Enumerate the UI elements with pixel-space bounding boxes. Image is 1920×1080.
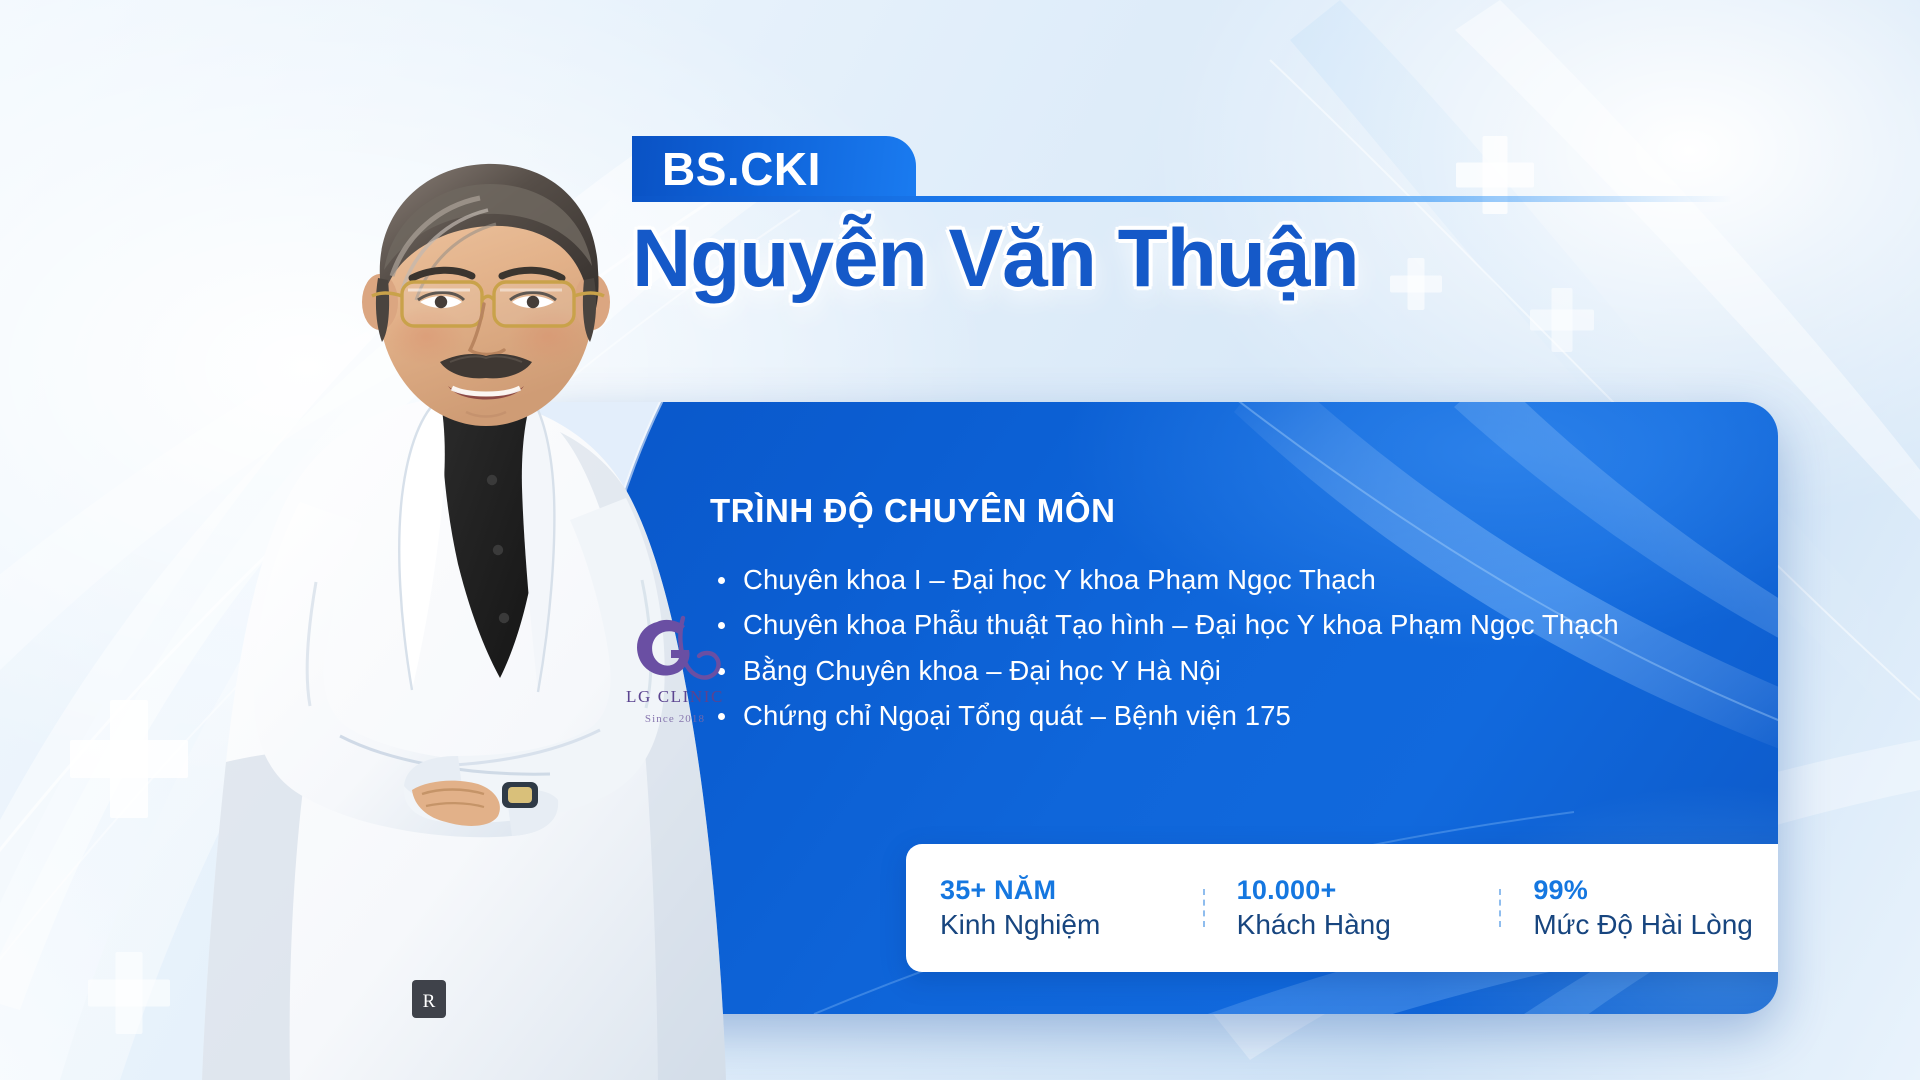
- doctor-name: Nguyễn Văn Thuận: [632, 216, 1862, 302]
- credential-item: Bằng Chuyên khoa – Đại học Y Hà Nội: [710, 651, 1690, 691]
- doctor-portrait: LG CLINIC Since 2018 R: [140, 150, 760, 1080]
- stat-value: 99%: [1533, 875, 1778, 906]
- stat-label: Kinh Nghiệm: [940, 908, 1203, 942]
- header-block: BS.CKI Nguyễn Văn Thuận: [632, 136, 1862, 302]
- stat-value: 10.000+: [1237, 875, 1500, 906]
- badge-row: BS.CKI: [632, 136, 1862, 202]
- svg-text:Since 2018: Since 2018: [645, 713, 705, 725]
- credential-item: Chuyên khoa I – Đại học Y khoa Phạm Ngọc…: [710, 560, 1690, 600]
- svg-text:LG CLINIC: LG CLINIC: [626, 687, 724, 706]
- credential-item: Chuyên khoa Phẫu thuật Tạo hình – Đại họ…: [710, 605, 1690, 645]
- stat-label: Mức Độ Hài Lòng: [1533, 908, 1778, 942]
- panel-content: TRÌNH ĐỘ CHUYÊN MÔN Chuyên khoa I – Đại …: [710, 402, 1778, 1014]
- svg-text:R: R: [423, 991, 436, 1012]
- stat-years-experience: 35+ NĂM Kinh Nghiệm: [906, 875, 1203, 942]
- credential-item: Chứng chỉ Ngoại Tổng quát – Bệnh viện 17…: [710, 696, 1690, 736]
- stats-card: 35+ NĂM Kinh Nghiệm 10.000+ Khách Hàng 9…: [906, 844, 1778, 972]
- badge-underline-rule: [632, 196, 1732, 202]
- panel-title: TRÌNH ĐỘ CHUYÊN MÔN: [710, 492, 1116, 530]
- stat-label: Khách Hàng: [1237, 908, 1500, 942]
- stat-value: 35+ NĂM: [940, 875, 1203, 906]
- poster-canvas: BS.CKI Nguyễn Văn Thuận: [0, 0, 1920, 1080]
- stat-satisfaction: 99% Mức Độ Hài Lòng: [1499, 875, 1778, 942]
- credentials-list: Chuyên khoa I – Đại học Y khoa Phạm Ngọc…: [710, 560, 1690, 742]
- stat-customers: 10.000+ Khách Hàng: [1203, 875, 1500, 942]
